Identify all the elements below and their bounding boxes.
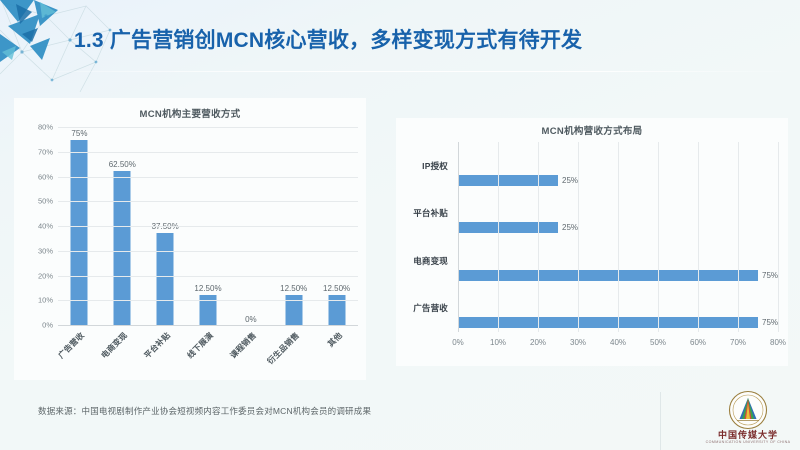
- slide-canvas: 1.3 广告营销创MCN核心营收，多样变现方式有待开发 MCN机构主要营收方式 …: [0, 0, 800, 450]
- column-gridline: 60%: [58, 177, 358, 178]
- column-y-tick-label: 30%: [38, 246, 53, 255]
- column-item[interactable]: 37.50%平台补贴: [144, 128, 187, 326]
- bar-gridline: 30%: [578, 142, 579, 332]
- column-value-label: 75%: [71, 129, 87, 138]
- column-gridline: 80%: [58, 127, 358, 128]
- bar-gridline: 50%: [658, 142, 659, 332]
- chart-title-bar: MCN机构营收方式布局: [396, 123, 788, 137]
- bar-rect[interactable]: [458, 222, 558, 233]
- slide-header: 1.3 广告营销创MCN核心营收，多样变现方式有待开发: [0, 0, 800, 72]
- column-bar[interactable]: [71, 140, 88, 326]
- column-value-label: 12.50%: [194, 284, 221, 293]
- logo-name-en: COMMUNICATION UNIVERSITY OF CHINA: [700, 440, 796, 444]
- bar-value-label: 75%: [762, 270, 778, 281]
- bar-x-tick-label: 20%: [530, 338, 546, 347]
- bar-gridline: 80%: [778, 142, 779, 332]
- column-y-tick-label: 40%: [38, 222, 53, 231]
- bar-x-tick-label: 30%: [570, 338, 586, 347]
- bar-value-label: 75%: [762, 317, 778, 328]
- bar-category-label: 广告营收: [413, 302, 448, 314]
- bar-gridline: 70%: [738, 142, 739, 332]
- column-category-label: 衍生品销售: [265, 330, 302, 367]
- column-series: 75%广告营收62.50%电商变现37.50%平台补贴12.50%线下展演0%课…: [58, 128, 358, 326]
- chart-title-column: MCN机构主要营收方式: [14, 106, 366, 120]
- column-y-tick-label: 50%: [38, 197, 53, 206]
- column-value-label: 0%: [245, 315, 257, 324]
- bar-x-tick-label: 50%: [650, 338, 666, 347]
- bar-category-label: IP授权: [422, 160, 448, 172]
- column-y-tick-label: 70%: [38, 147, 53, 156]
- column-gridline: 10%: [58, 300, 358, 301]
- column-chart-plot-area: 75%广告营收62.50%电商变现37.50%平台补贴12.50%线下展演0%课…: [58, 128, 358, 326]
- column-gridline: 20%: [58, 276, 358, 277]
- column-category-label: 线下展演: [185, 330, 216, 361]
- column-value-label: 62.50%: [109, 160, 136, 169]
- bar-x-tick-label: 40%: [610, 338, 626, 347]
- page-title: 1.3 广告营销创MCN核心营收，多样变现方式有待开发: [74, 24, 582, 54]
- bar-x-tick-label: 80%: [770, 338, 786, 347]
- university-logo: 中国传媒大学 COMMUNICATION UNIVERSITY OF CHINA: [700, 390, 796, 448]
- column-category-label: 广告营收: [56, 330, 87, 361]
- column-value-label: 12.50%: [323, 284, 350, 293]
- column-bar[interactable]: [157, 233, 174, 326]
- bar-gridline: 20%: [538, 142, 539, 332]
- header-divider: [0, 71, 800, 72]
- column-y-tick-label: 0%: [42, 321, 53, 330]
- bar-category-label: 电商变现: [413, 255, 448, 267]
- bar-rect[interactable]: [458, 175, 558, 186]
- bar-gridline: 0%: [458, 142, 459, 332]
- logo-emblem-icon: [728, 390, 768, 430]
- chart-panel-column: MCN机构主要营收方式 75%广告营收62.50%电商变现37.50%平台补贴1…: [14, 98, 366, 380]
- column-gridline: 50%: [58, 201, 358, 202]
- column-item[interactable]: 0%课程销售: [229, 128, 272, 326]
- column-category-label: 电商变现: [99, 330, 130, 361]
- bar-rect[interactable]: [458, 317, 758, 328]
- column-y-tick-label: 20%: [38, 271, 53, 280]
- bar-gridline: 40%: [618, 142, 619, 332]
- column-value-label: 12.50%: [280, 284, 307, 293]
- column-category-label: 课程销售: [228, 330, 259, 361]
- column-gridline: 40%: [58, 226, 358, 227]
- column-gridline: 70%: [58, 152, 358, 153]
- column-item[interactable]: 62.50%电商变现: [101, 128, 144, 326]
- bar-value-label: 25%: [562, 222, 578, 233]
- chart-panel-bar: MCN机构营收方式布局 25%IP授权25%平台补贴75%电商变现75%广告营收…: [396, 118, 788, 366]
- column-bar[interactable]: [114, 171, 131, 326]
- column-category-label: 平台补贴: [142, 330, 173, 361]
- bar-x-tick-label: 10%: [490, 338, 506, 347]
- column-y-tick-label: 80%: [38, 123, 53, 132]
- bar-rect[interactable]: [458, 270, 758, 281]
- bar-x-tick-label: 70%: [730, 338, 746, 347]
- bar-chart-plot-area: 25%IP授权25%平台补贴75%电商变现75%广告营收 0%10%20%30%…: [458, 142, 778, 332]
- source-note: 数据来源：中国电视剧制作产业协会短视频内容工作委员会对MCN机构会员的调研成果: [38, 405, 371, 417]
- column-category-label: 其他: [325, 330, 344, 349]
- column-gridline: 0%: [58, 325, 358, 326]
- bar-value-label: 25%: [562, 175, 578, 186]
- column-y-tick-label: 10%: [38, 296, 53, 305]
- column-item[interactable]: 12.50%衍生品销售: [272, 128, 315, 326]
- footer-divider: [660, 392, 661, 450]
- bar-x-tick-label: 60%: [690, 338, 706, 347]
- column-item[interactable]: 75%广告营收: [58, 128, 101, 326]
- bar-gridline: 10%: [498, 142, 499, 332]
- bar-category-label: 平台补贴: [413, 207, 448, 219]
- bar-gridline: 60%: [698, 142, 699, 332]
- bar-x-tick-label: 0%: [452, 338, 464, 347]
- column-y-tick-label: 60%: [38, 172, 53, 181]
- column-item[interactable]: 12.50%线下展演: [187, 128, 230, 326]
- column-gridline: 30%: [58, 251, 358, 252]
- column-item[interactable]: 12.50%其他: [315, 128, 358, 326]
